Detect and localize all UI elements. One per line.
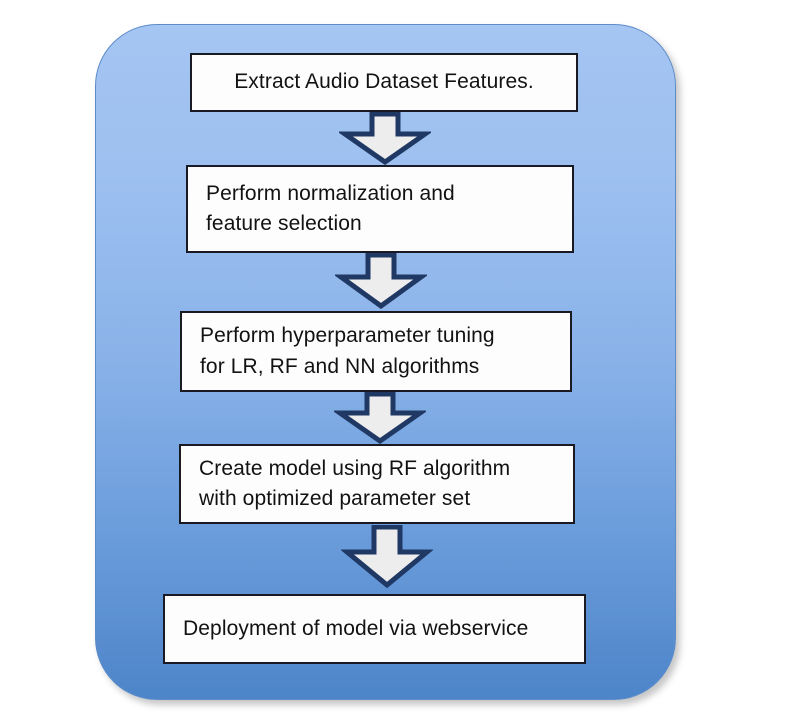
flow-node-deploy-model-line-1: Deployment of model via webservice <box>183 614 566 644</box>
flow-node-extract-features-line-1: Extract Audio Dataset Features. <box>210 67 558 97</box>
flow-node-extract-features[interactable]: Extract Audio Dataset Features. <box>190 53 578 112</box>
flow-arrow-2 <box>335 253 427 309</box>
flow-node-create-model[interactable]: Create model using RF algorithm with opt… <box>179 444 575 524</box>
flow-node-create-model-line-1: Create model using RF algorithm <box>199 454 555 484</box>
flowchart-canvas: Extract Audio Dataset Features. Perform … <box>0 0 800 722</box>
flow-node-hyperparameter-tuning-line-1: Perform hyperparameter tuning <box>200 321 552 351</box>
flow-node-normalize-select-line-2: feature selection <box>206 209 554 239</box>
flow-arrow-4 <box>341 525 433 588</box>
flow-node-hyperparameter-tuning[interactable]: Perform hyperparameter tuning for LR, RF… <box>180 311 572 392</box>
flow-node-normalize-select-line-1: Perform normalization and <box>206 179 554 209</box>
flow-node-deploy-model[interactable]: Deployment of model via webservice <box>163 594 586 664</box>
flow-node-hyperparameter-tuning-line-2: for LR, RF and NN algorithms <box>200 352 552 382</box>
flow-node-normalize-select[interactable]: Perform normalization and feature select… <box>186 165 574 253</box>
flow-arrow-1 <box>339 112 431 165</box>
flow-arrow-3 <box>334 392 426 444</box>
flow-node-create-model-line-2: with optimized parameter set <box>199 484 555 514</box>
